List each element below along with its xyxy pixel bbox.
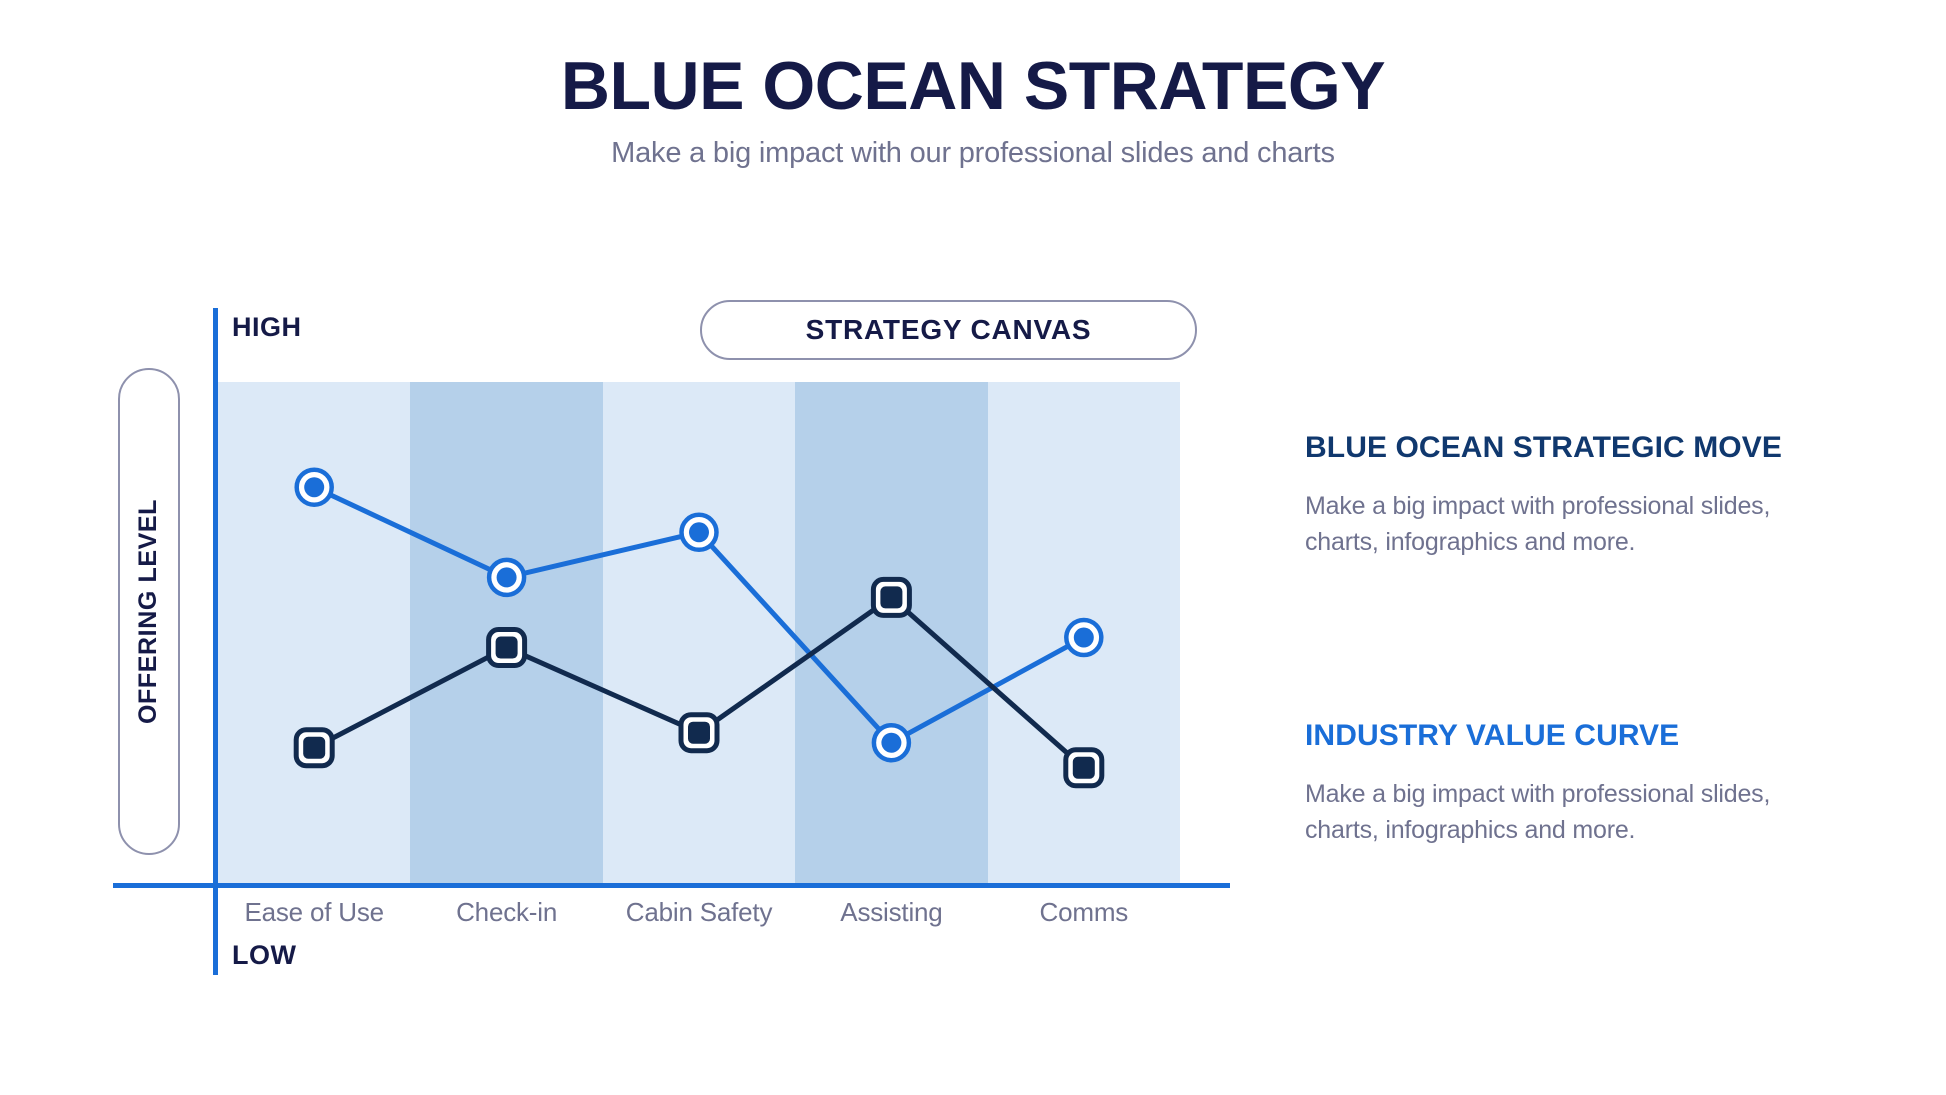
marker-square-fill-icon	[303, 737, 325, 759]
marker-square-fill-icon	[688, 722, 710, 744]
data-point-1-1[interactable]	[489, 630, 525, 666]
y-axis-low-label: LOW	[232, 940, 296, 971]
strategy-canvas-badge-label: STRATEGY CANVAS	[806, 314, 1092, 346]
data-point-1-0[interactable]	[296, 730, 332, 766]
x-tick-label-0: Ease of Use	[218, 897, 410, 928]
x-axis-line	[113, 883, 1230, 888]
data-point-0-1[interactable]	[489, 560, 524, 595]
x-tick-label-1: Check-in	[410, 897, 602, 928]
marker-dot-icon	[689, 522, 709, 542]
strategy-canvas-chart: OFFERING LEVEL HIGH LOW STRATEGY CANVAS …	[0, 0, 1280, 1095]
legend-panel: BLUE OCEAN STRATEGIC MOVE Make a big imp…	[1305, 430, 1865, 848]
series-markers	[296, 470, 1102, 786]
data-point-0-4[interactable]	[1066, 620, 1101, 655]
data-point-1-3[interactable]	[873, 579, 909, 615]
marker-square-fill-icon	[496, 637, 518, 659]
marker-dot-icon	[497, 567, 517, 587]
slide-root: BLUE OCEAN STRATEGY Make a big impact wi…	[0, 0, 1946, 1095]
x-tick-label-2: Cabin Safety	[603, 897, 795, 928]
y-axis-title-label: OFFERING LEVEL	[135, 499, 164, 724]
legend-title-blue-ocean: BLUE OCEAN STRATEGIC MOVE	[1305, 430, 1865, 466]
marker-dot-icon	[881, 733, 901, 753]
legend-title-industry-curve: INDUSTRY VALUE CURVE	[1305, 718, 1865, 754]
data-point-1-4[interactable]	[1066, 750, 1102, 786]
data-point-0-0[interactable]	[297, 470, 332, 505]
marker-square-fill-icon	[1073, 757, 1095, 779]
y-axis-high-label: HIGH	[232, 312, 302, 343]
series-svg	[218, 382, 1180, 883]
data-point-1-2[interactable]	[681, 715, 717, 751]
marker-dot-icon	[1074, 628, 1094, 648]
data-point-0-3[interactable]	[874, 725, 909, 760]
legend-body-blue-ocean: Make a big impact with professional slid…	[1305, 488, 1835, 560]
x-tick-label-4: Comms	[988, 897, 1180, 928]
legend-body-industry-curve: Make a big impact with professional slid…	[1305, 776, 1835, 848]
legend-block-industry-curve: INDUSTRY VALUE CURVE Make a big impact w…	[1305, 718, 1865, 848]
plot-area	[218, 382, 1180, 883]
legend-block-blue-ocean: BLUE OCEAN STRATEGIC MOVE Make a big imp…	[1305, 430, 1865, 560]
marker-square-fill-icon	[880, 586, 902, 608]
data-point-0-2[interactable]	[682, 515, 717, 550]
x-axis-tick-labels: Ease of UseCheck-inCabin SafetyAssisting…	[218, 897, 1180, 928]
x-tick-label-3: Assisting	[795, 897, 987, 928]
y-axis-title-pill: OFFERING LEVEL	[118, 368, 180, 855]
marker-dot-icon	[304, 477, 324, 497]
strategy-canvas-badge: STRATEGY CANVAS	[700, 300, 1197, 360]
